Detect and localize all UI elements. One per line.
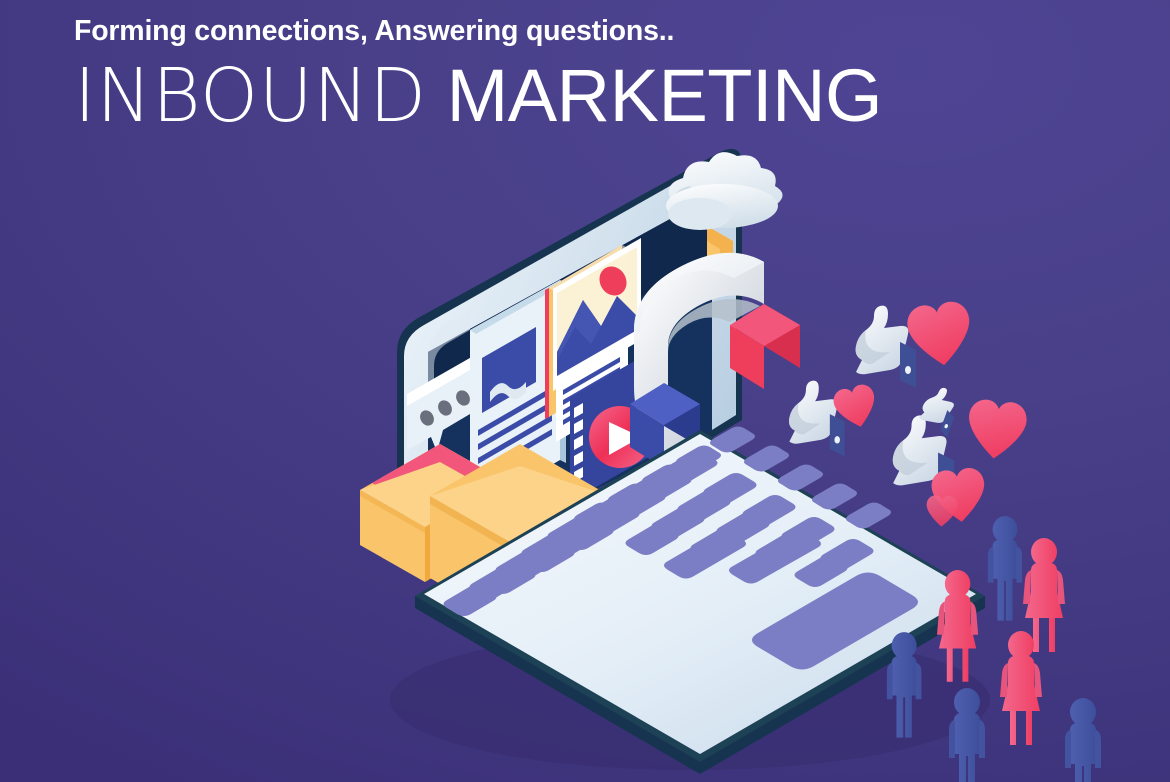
headline-block: Forming connections, Answering questions… — [74, 16, 974, 133]
person-male-icon — [988, 516, 1022, 621]
banner-canvas: Forming connections, Answering questions… — [0, 0, 1170, 782]
title-word-inbound: INBOUND — [74, 53, 427, 139]
page-title: INBOUND MARKETING — [74, 59, 974, 133]
title-word-marketing: MARKETING — [427, 54, 882, 137]
thumbs-up-icon — [856, 306, 916, 388]
heart-icon — [965, 398, 1028, 461]
thumbs-up-icon — [789, 381, 845, 457]
person-male-icon — [1065, 698, 1101, 782]
person-male-icon — [949, 688, 985, 782]
cloud-icon — [665, 152, 782, 230]
kicker-text: Forming connections, Answering questions… — [74, 16, 974, 47]
heart-icon — [926, 495, 958, 527]
